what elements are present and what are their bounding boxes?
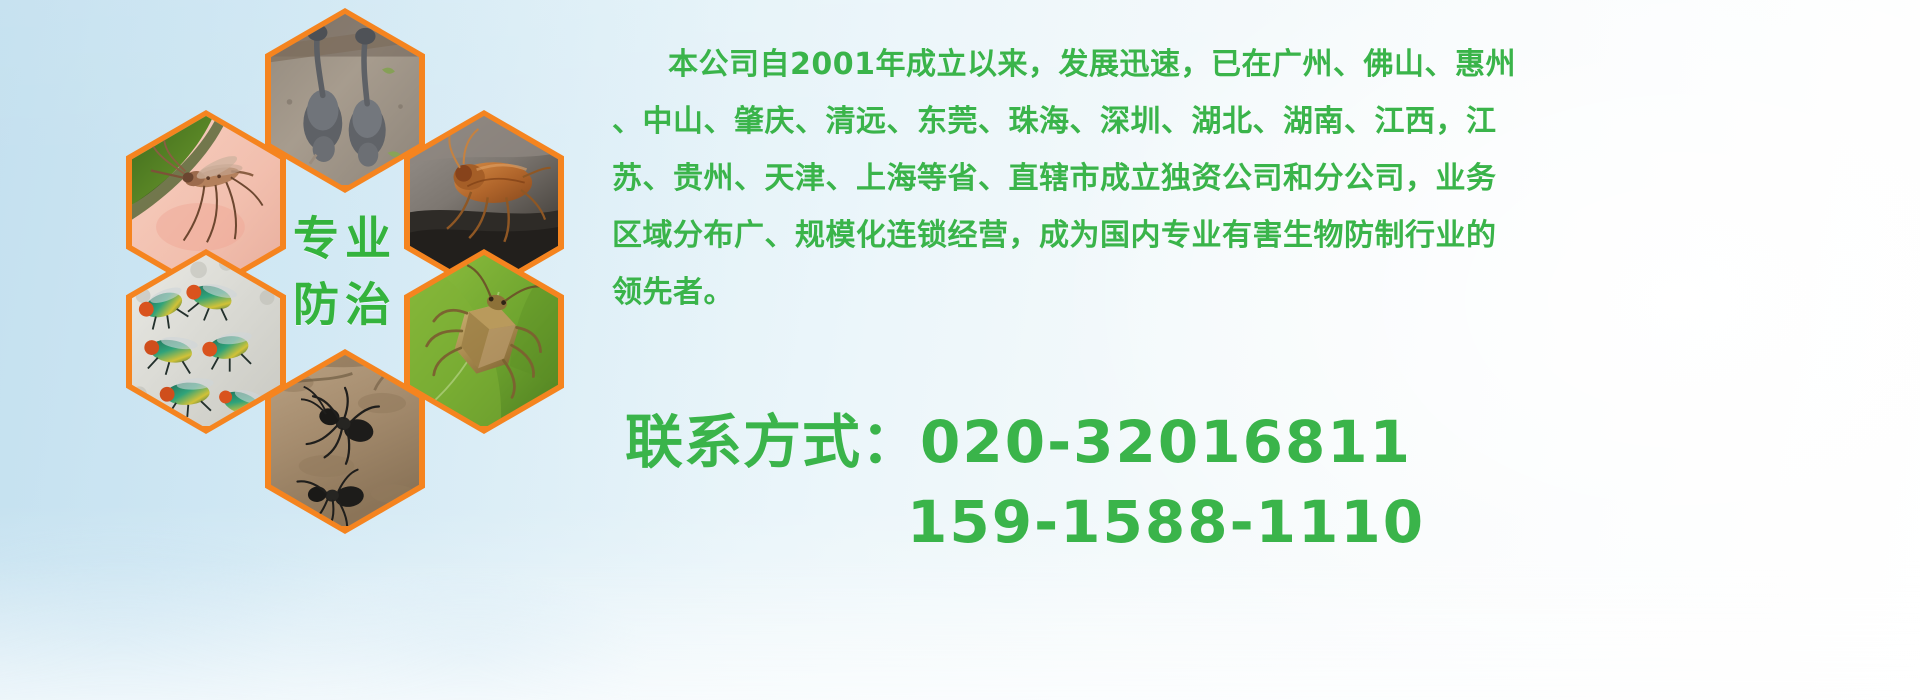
- contact-line-secondary: 159-1588-1110: [625, 482, 1905, 562]
- hex-tile-stinkbug-image: [410, 255, 558, 428]
- hex-tile-flies: [126, 249, 286, 434]
- description-line-1: 本公司自2001年成立以来，发展迅速，已在广州、佛山、惠州: [612, 36, 1912, 93]
- center-slogan-line2: 防治: [265, 272, 425, 339]
- phone-secondary[interactable]: 159-1588-1110: [907, 488, 1425, 556]
- hex-tile-rats: [265, 8, 425, 193]
- description-line-3: 苏、贵州、天津、上海等省、直辖市成立独资公司和分公司，业务: [612, 150, 1912, 207]
- hex-tile-flies-image: [132, 255, 280, 428]
- description-line-2: 、中山、肇庆、清远、东莞、珠海、深圳、湖北、湖南、江西，江: [612, 93, 1912, 150]
- hex-tile-center-label: 专业 防治: [265, 179, 425, 364]
- company-description: 本公司自2001年成立以来，发展迅速，已在广州、佛山、惠州 、中山、肇庆、清远、…: [612, 36, 1912, 321]
- ants-photo: [271, 355, 419, 526]
- flies-photo: [132, 255, 280, 426]
- hex-tile-ants-image: [271, 355, 419, 528]
- contact-line-primary: 联系方式：020-32016811: [625, 402, 1905, 482]
- description-line-4: 区域分布广、规模化连锁经营，成为国内专业有害生物防制行业的: [612, 207, 1912, 264]
- hex-tile-ants: [265, 349, 425, 534]
- hex-tile-stinkbug: [404, 249, 564, 434]
- stinkbug-photo: [410, 255, 558, 426]
- contact-label: 联系方式：: [625, 408, 920, 476]
- rats-photo: [271, 14, 419, 185]
- hexagon-photo-cluster: 专业 防治: [95, 8, 595, 573]
- hex-tile-rats-image: [271, 14, 419, 187]
- center-slogan-line1: 专业: [293, 211, 397, 265]
- contact-block: 联系方式：020-32016811 159-1588-1110: [625, 402, 1905, 562]
- description-line-5: 领先者。: [612, 264, 1912, 321]
- center-slogan: 专业 防治: [265, 205, 425, 338]
- phone-primary[interactable]: 020-32016811: [920, 408, 1412, 476]
